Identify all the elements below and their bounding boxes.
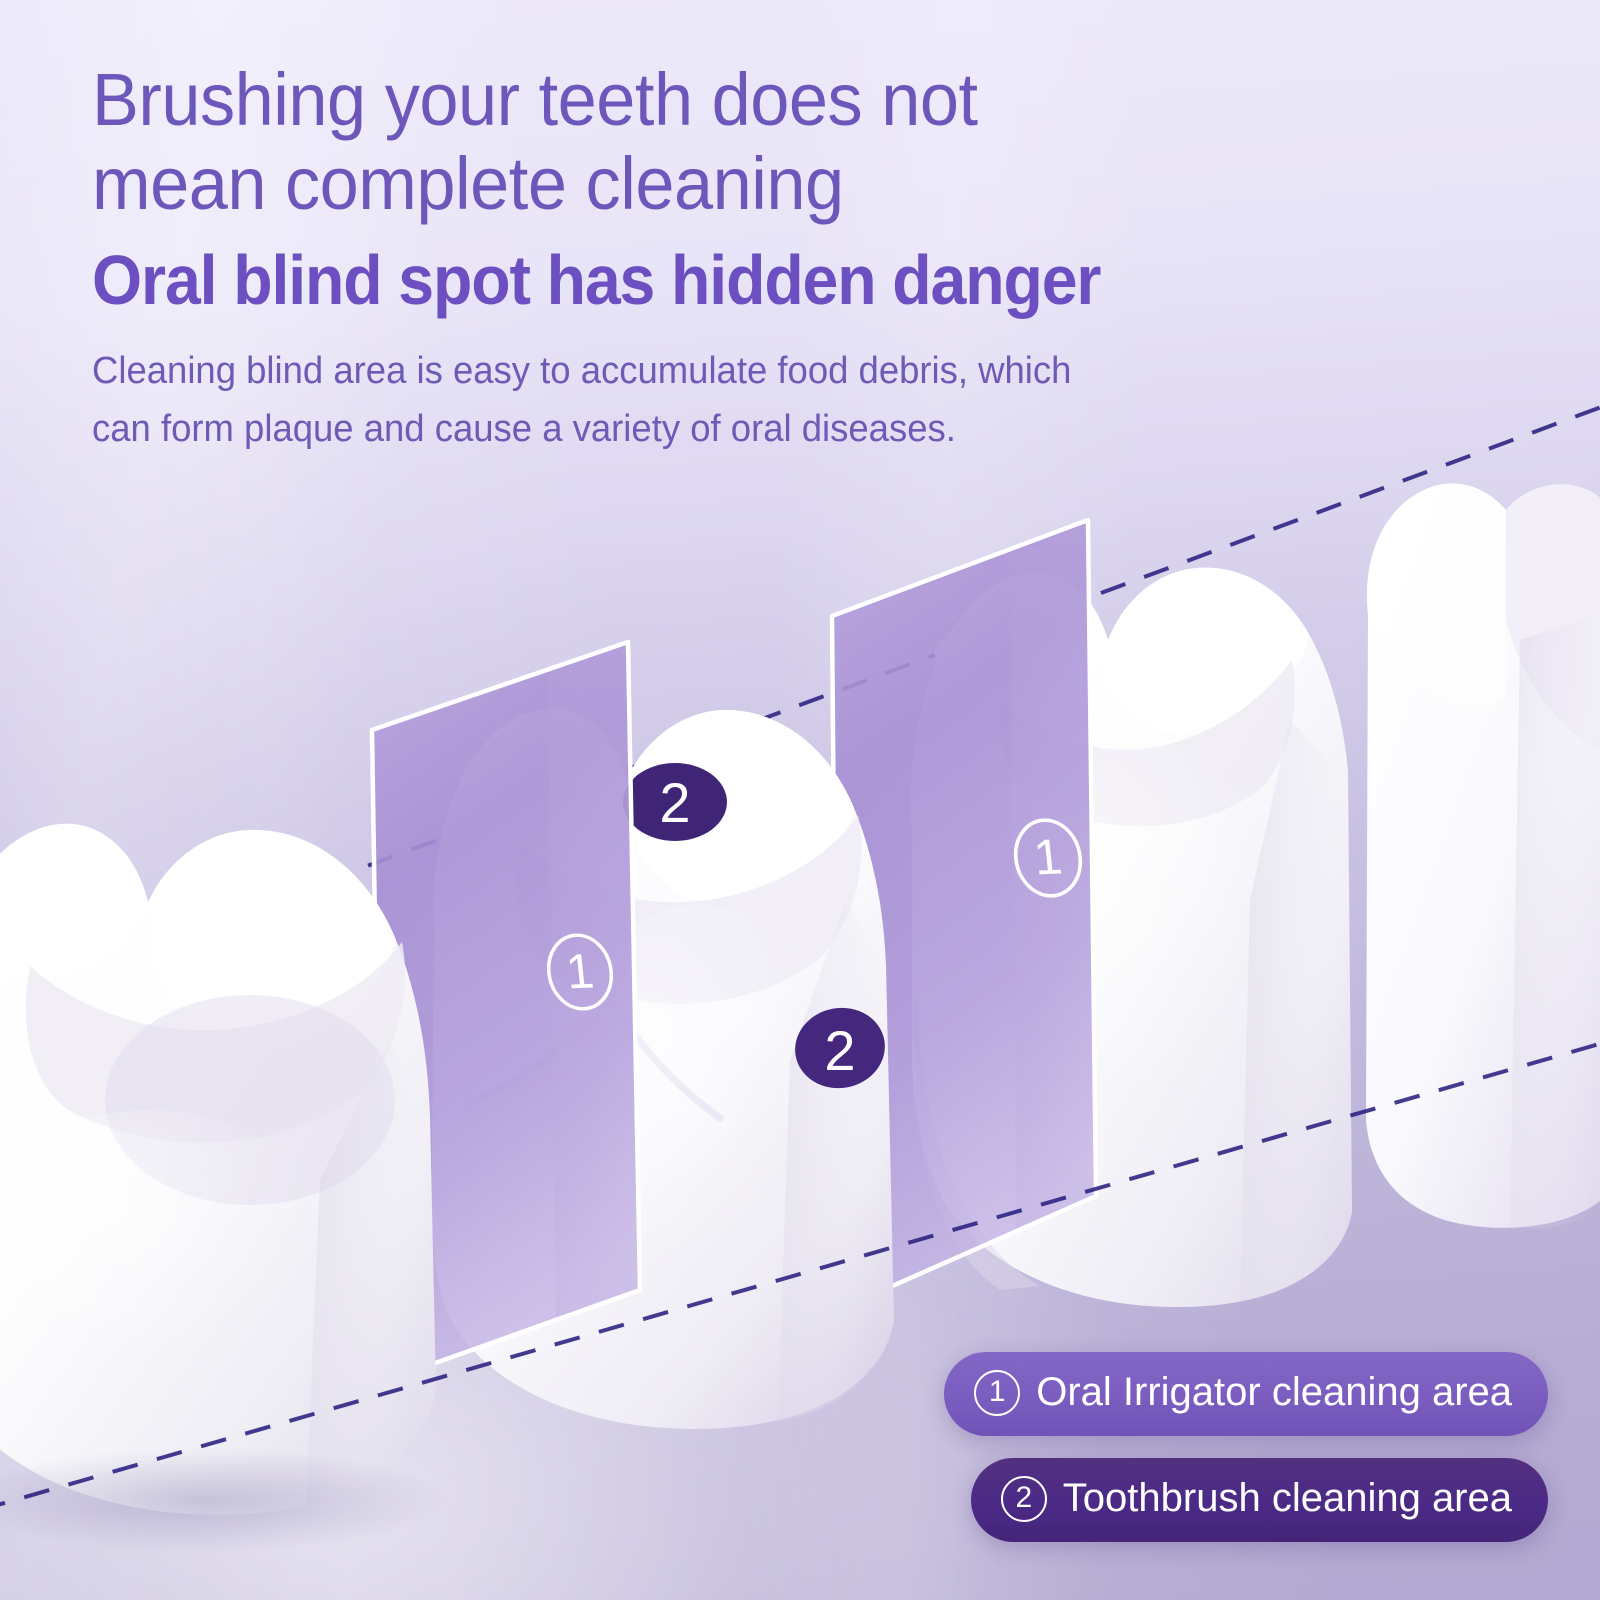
- legend-marker-one: 1: [974, 1370, 1020, 1416]
- legend-item-toothbrush[interactable]: 2 Toothbrush cleaning area: [971, 1458, 1548, 1542]
- legend-marker-two: 2: [1001, 1476, 1047, 1522]
- body-copy: Cleaning blind area is easy to accumulat…: [92, 343, 1436, 459]
- badge-two-upper: 2: [623, 763, 727, 841]
- header-text-block: Brushing your teeth does not mean comple…: [92, 58, 1492, 458]
- subheadline: Oral blind spot has hidden danger: [92, 243, 1380, 317]
- plane-marker-one-right-label: 1: [1031, 829, 1065, 886]
- body-line-1: Cleaning blind area is easy to accumulat…: [92, 343, 1436, 401]
- tooth-left: [0, 824, 450, 1552]
- legend: 1 Oral Irrigator cleaning area 2 Toothbr…: [944, 1352, 1548, 1542]
- body-line-2: can form plaque and cause a variety of o…: [92, 401, 1436, 459]
- badge-two-lower-label: 2: [824, 1019, 855, 1082]
- legend-label-oral-irrigator: Oral Irrigator cleaning area: [1036, 1372, 1512, 1412]
- headline: Brushing your teeth does not mean comple…: [92, 58, 1422, 227]
- badge-two-upper-label: 2: [659, 771, 690, 834]
- tooth-far-right: [1366, 483, 1600, 1228]
- headline-line-2: mean complete cleaning: [92, 142, 1422, 226]
- infographic-poster: 1 2: [0, 0, 1600, 1600]
- legend-label-toothbrush: Toothbrush cleaning area: [1063, 1478, 1512, 1518]
- plane-marker-one-left-label: 1: [564, 945, 597, 1000]
- headline-line-1: Brushing your teeth does not: [92, 58, 1422, 142]
- legend-item-oral-irrigator[interactable]: 1 Oral Irrigator cleaning area: [944, 1352, 1548, 1436]
